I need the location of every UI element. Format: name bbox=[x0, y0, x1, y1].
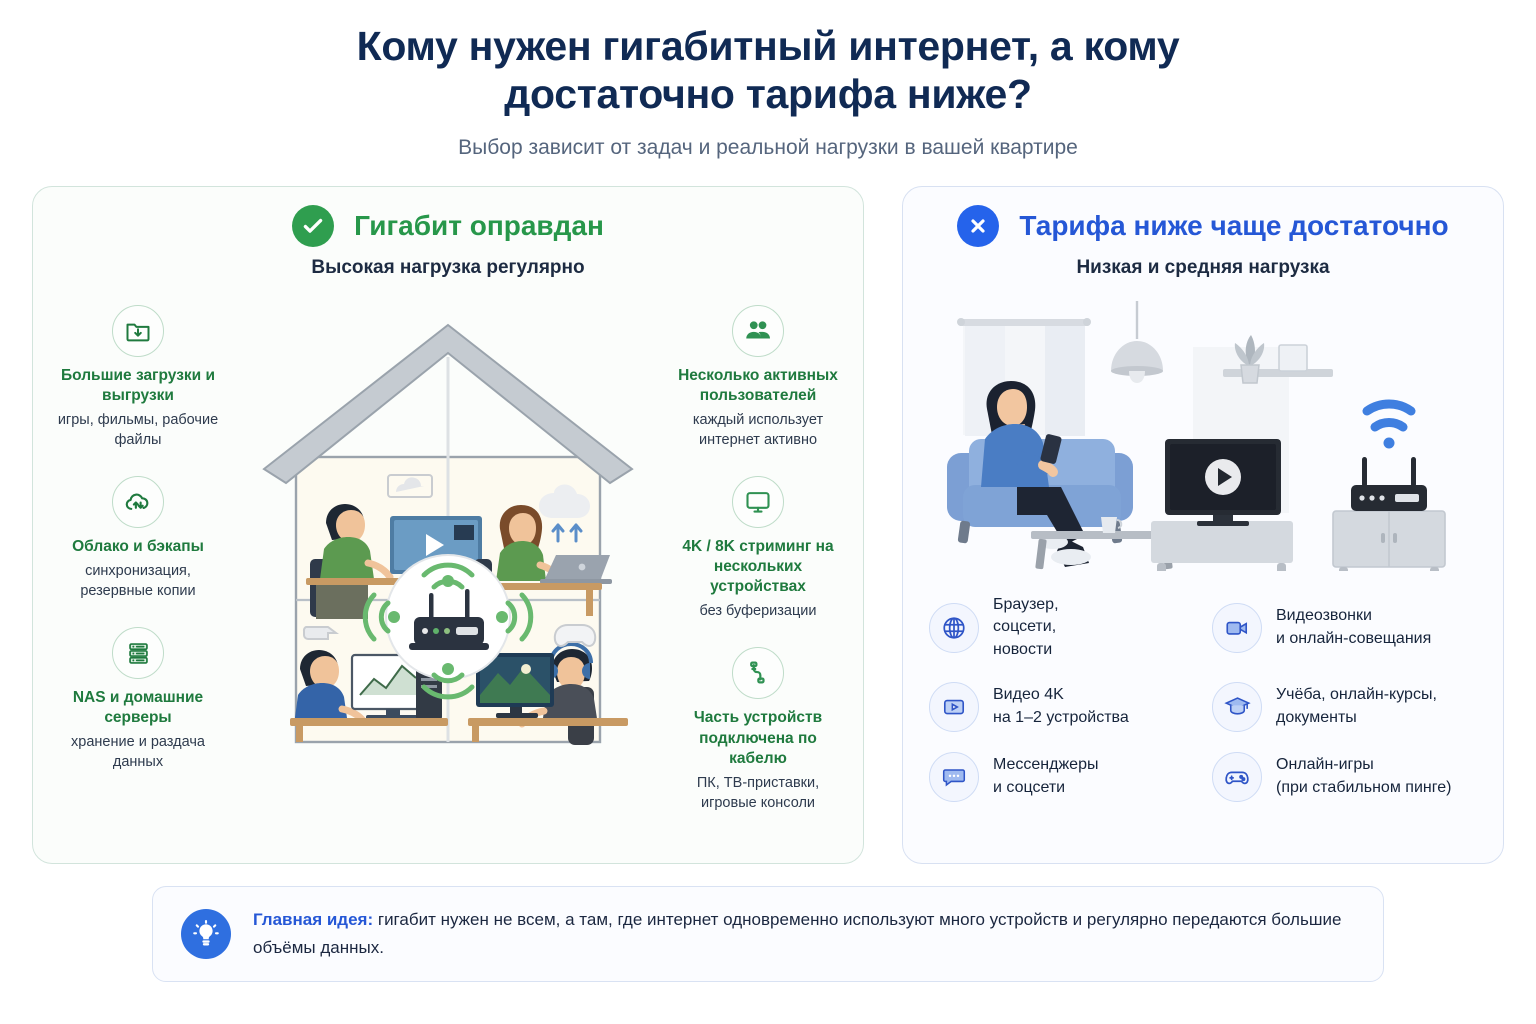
house-illustration bbox=[227, 293, 669, 839]
feature-title: 4K / 8K стриминг на нескольких устройств… bbox=[669, 537, 847, 597]
feature-item: Часть устройств подключена по кабелю ПК,… bbox=[669, 647, 847, 812]
feature-subtitle: игры, фильмы, рабочие файлы bbox=[49, 410, 227, 450]
feature-subtitle: без буферизации bbox=[669, 601, 847, 621]
monitor-icon bbox=[732, 476, 784, 528]
left-panel-subtitle: Высокая нагрузка регулярно bbox=[33, 257, 863, 279]
right-panel-subtitle: Низкая и средняя нагрузка bbox=[903, 257, 1503, 279]
left-features-column: Большие загрузки и выгрузки игры, фильмы… bbox=[49, 293, 227, 839]
chip-label: Видеозвонки и онлайн-совещания bbox=[1276, 605, 1431, 650]
gamepad-icon bbox=[1212, 752, 1262, 802]
infographic-page: Кому нужен гигабитный интернет, а кому д… bbox=[0, 0, 1536, 1024]
panel-lower-tariff-enough: Тарифа ниже чаще достаточно Низкая и сре… bbox=[902, 186, 1504, 864]
graduation-cap-icon bbox=[1212, 682, 1262, 732]
page-subtitle: Выбор зависит от задач и реальной нагруз… bbox=[0, 136, 1536, 160]
chat-bubble-icon bbox=[929, 752, 979, 802]
feature-item: 4K / 8K стриминг на нескольких устройств… bbox=[669, 476, 847, 621]
page-title: Кому нужен гигабитный интернет, а кому д… bbox=[268, 22, 1268, 119]
key-idea-lead: Главная идея: bbox=[253, 910, 373, 929]
video-call-icon bbox=[1212, 603, 1262, 653]
wifi-signal-icon bbox=[1367, 404, 1411, 449]
chip-label: Мессенджеры и соцсети bbox=[993, 754, 1098, 799]
chip-item: Видео 4K на 1–2 устройства bbox=[929, 682, 1196, 732]
chip-item: Мессенджеры и соцсети bbox=[929, 752, 1196, 802]
feature-item: Облако и бэкапы синхронизация, резервные… bbox=[49, 476, 227, 601]
feature-item: NAS и домашние серверы хранение и раздач… bbox=[49, 627, 227, 772]
panel-gigabit-justified: Гигабит оправдан Высокая нагрузка регуля… bbox=[32, 186, 864, 864]
feature-subtitle: каждый использует интернет активно bbox=[669, 410, 847, 450]
feature-subtitle: хранение и раздача данных bbox=[49, 732, 227, 772]
key-idea-callout: Главная идея: гигабит нужен не всем, а т… bbox=[152, 886, 1384, 982]
right-panel-chips: Браузер, соцсети, новости Видеозвонки bbox=[903, 576, 1503, 828]
feature-title: Большие загрузки и выгрузки bbox=[49, 366, 227, 406]
left-panel-title: Гигабит оправдан bbox=[354, 210, 604, 242]
tv-screen bbox=[1165, 439, 1281, 526]
globe-icon bbox=[929, 603, 979, 653]
living-room-illustration bbox=[903, 279, 1503, 576]
server-rack-icon bbox=[112, 627, 164, 679]
feature-subtitle: ПК, ТВ-приставки, игровые консоли bbox=[669, 773, 847, 813]
feature-item: Несколько активных пользователей каждый … bbox=[669, 305, 847, 450]
chip-item: Браузер, соцсети, новости bbox=[929, 594, 1196, 662]
cloud-sync-icon bbox=[112, 476, 164, 528]
feature-subtitle: синхронизация, резервные копии bbox=[49, 561, 227, 601]
panels-row: Гигабит оправдан Высокая нагрузка регуля… bbox=[0, 160, 1536, 864]
chip-label: Онлайн-игры (при стабильном пинге) bbox=[1276, 754, 1451, 799]
chip-item: Учёба, онлайн-курсы, документы bbox=[1212, 682, 1479, 732]
feature-item: Большие загрузки и выгрузки игры, фильмы… bbox=[49, 305, 227, 450]
feature-title: NAS и домашние серверы bbox=[49, 688, 227, 728]
x-circle-icon bbox=[957, 205, 999, 247]
feature-title: Часть устройств подключена по кабелю bbox=[669, 708, 847, 768]
chip-label: Учёба, онлайн-курсы, документы bbox=[1276, 684, 1437, 729]
feature-title: Несколько активных пользователей bbox=[669, 366, 847, 406]
chip-item: Видеозвонки и онлайн-совещания bbox=[1212, 594, 1479, 662]
key-idea-text: Главная идея: гигабит нужен не всем, а т… bbox=[253, 906, 1355, 961]
chip-item: Онлайн-игры (при стабильном пинге) bbox=[1212, 752, 1479, 802]
check-circle-icon bbox=[292, 205, 334, 247]
lightbulb-icon bbox=[181, 909, 231, 959]
ethernet-cable-icon bbox=[732, 647, 784, 699]
right-panel-title: Тарифа ниже чаще достаточно bbox=[1019, 210, 1448, 242]
header: Кому нужен гигабитный интернет, а кому д… bbox=[0, 0, 1536, 160]
wifi-router-icon-right bbox=[1351, 457, 1427, 511]
video-play-icon bbox=[929, 682, 979, 732]
chip-label: Видео 4K на 1–2 устройства bbox=[993, 684, 1129, 729]
left-panel-body: Большие загрузки и выгрузки игры, фильмы… bbox=[33, 279, 863, 863]
folder-download-icon bbox=[112, 305, 164, 357]
users-group-icon bbox=[732, 305, 784, 357]
key-idea-body: гигабит нужен не всем, а там, где интерн… bbox=[253, 910, 1341, 957]
chip-label: Браузер, соцсети, новости bbox=[993, 594, 1059, 662]
feature-title: Облако и бэкапы bbox=[49, 537, 227, 557]
right-features-column: Несколько активных пользователей каждый … bbox=[669, 293, 847, 839]
left-panel-header: Гигабит оправдан Высокая нагрузка регуля… bbox=[33, 187, 863, 279]
right-panel-header: Тарифа ниже чаще достаточно Низкая и сре… bbox=[903, 187, 1503, 279]
